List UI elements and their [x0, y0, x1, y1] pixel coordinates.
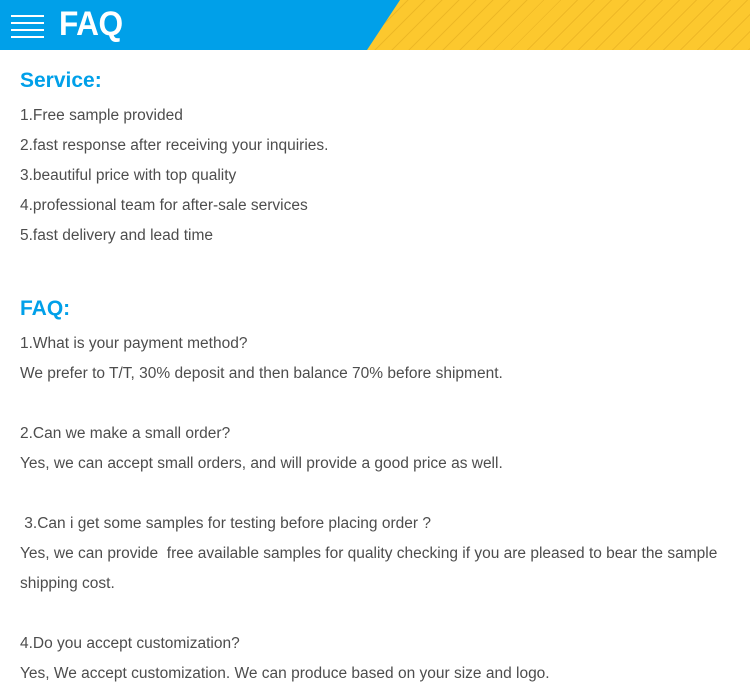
faq-answer: We prefer to T/T, 30% deposit and then b… [20, 359, 730, 389]
hamburger-line [11, 29, 44, 31]
faq-list: 1.What is your payment method? We prefer… [20, 329, 730, 689]
faq-item: 1.What is your payment method? We prefer… [20, 329, 730, 389]
faq-answer: Yes, We accept customization. We can pro… [20, 659, 730, 689]
faq-question: 4.Do you accept customization? [20, 629, 730, 659]
hamburger-line [11, 15, 44, 17]
header-content: FAQ [0, 0, 127, 50]
main-content: Service: 1.Free sample provided 2.fast r… [0, 69, 750, 689]
section-spacer [20, 251, 730, 297]
service-list: 1.Free sample provided 2.fast response a… [20, 101, 730, 251]
hamburger-line [11, 36, 44, 38]
faq-item-spacer [20, 389, 730, 419]
list-item: 2.fast response after receiving your inq… [20, 131, 730, 161]
list-item: 1.Free sample provided [20, 101, 730, 131]
faq-question: 1.What is your payment method? [20, 329, 730, 359]
faq-item-spacer [20, 479, 730, 509]
faq-question: 2.Can we make a small order? [20, 419, 730, 449]
service-section: Service: 1.Free sample provided 2.fast r… [20, 69, 730, 251]
faq-item: 2.Can we make a small order? Yes, we can… [20, 419, 730, 479]
list-item: 3.beautiful price with top quality [20, 161, 730, 191]
page-header: FAQ [0, 0, 750, 50]
faq-section: FAQ: 1.What is your payment method? We p… [20, 297, 730, 689]
faq-question: 3.Can i get some samples for testing bef… [20, 509, 730, 539]
faq-answer: Yes, we can provide free available sampl… [20, 539, 730, 599]
hamburger-line [11, 22, 44, 24]
service-heading: Service: [20, 69, 730, 93]
page-title: FAQ [59, 7, 123, 41]
list-item: 4.professional team for after-sale servi… [20, 191, 730, 221]
list-item: 5.fast delivery and lead time [20, 221, 730, 251]
faq-heading: FAQ: [20, 297, 730, 321]
faq-item: 4.Do you accept customization? Yes, We a… [20, 629, 730, 689]
faq-answer: Yes, we can accept small orders, and wil… [20, 449, 730, 479]
faq-item: 3.Can i get some samples for testing bef… [20, 509, 730, 599]
faq-item-spacer [20, 599, 730, 629]
hamburger-menu-icon[interactable] [11, 15, 44, 38]
